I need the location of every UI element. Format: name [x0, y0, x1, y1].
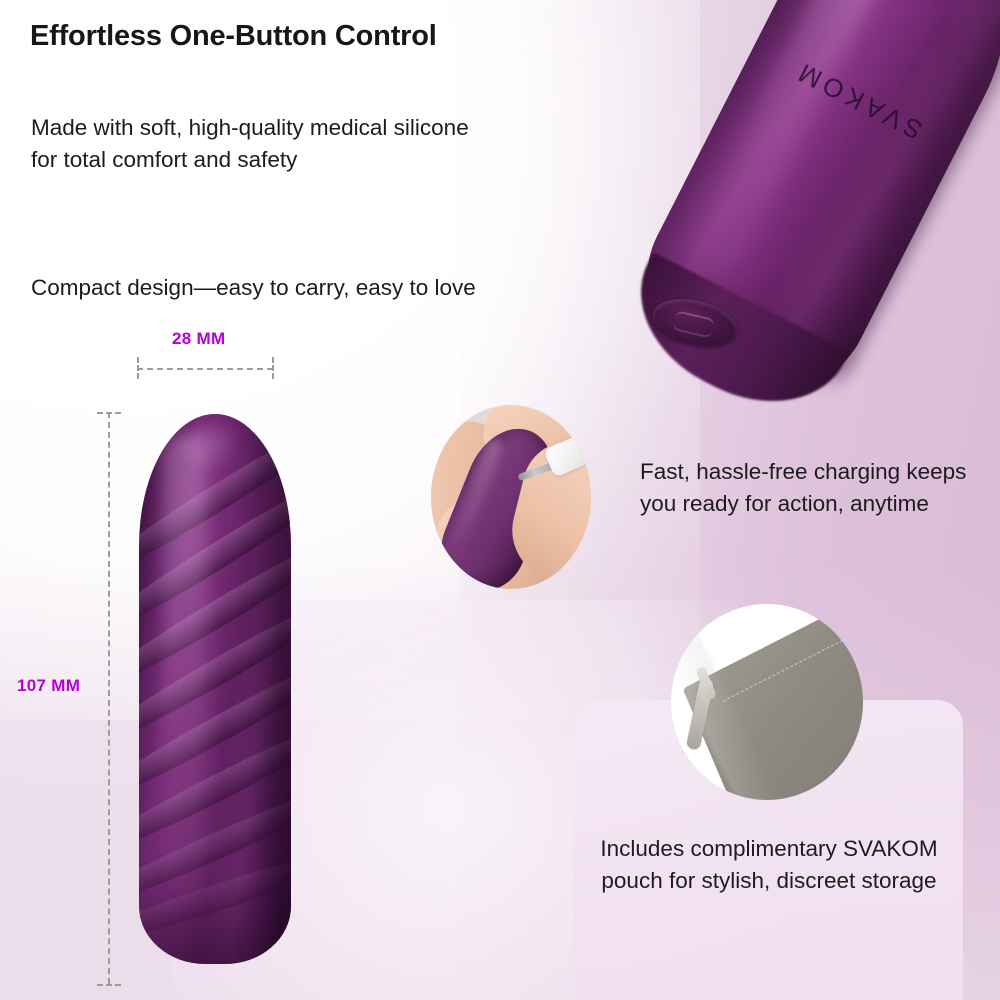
infographic-canvas: SVAKOM Effortless One-Button Control Mad…: [0, 0, 1000, 1000]
inset-pouch-photo: [671, 604, 863, 800]
dimension-label-width: 28 MM: [172, 329, 225, 349]
main-product-tip-highlight: [181, 422, 241, 474]
dimension-tick-top: [97, 412, 121, 414]
dimension-tick-right: [272, 357, 274, 379]
feature-text-silicone: Made with soft, high-quality medical sil…: [31, 112, 501, 176]
dimension-guide-horizontal: [137, 368, 273, 370]
dimension-label-height: 107 MM: [17, 676, 80, 696]
dimension-tick-bottom: [97, 984, 121, 986]
page-title: Effortless One-Button Control: [30, 20, 437, 53]
dimension-guide-vertical: [108, 412, 110, 984]
dimension-tick-left: [137, 357, 139, 379]
feature-text-charging: Fast, hassle-free charging keeps you rea…: [640, 456, 970, 520]
main-product-image: [139, 414, 291, 964]
main-product-body: [139, 414, 291, 964]
main-product-shadow-edge: [249, 414, 291, 964]
feature-text-compact: Compact design—easy to carry, easy to lo…: [31, 272, 561, 304]
inset-charging-photo: [431, 405, 591, 589]
main-product-highlight: [163, 434, 207, 894]
feature-text-pouch: Includes complimentary SVAKOM pouch for …: [575, 833, 963, 898]
